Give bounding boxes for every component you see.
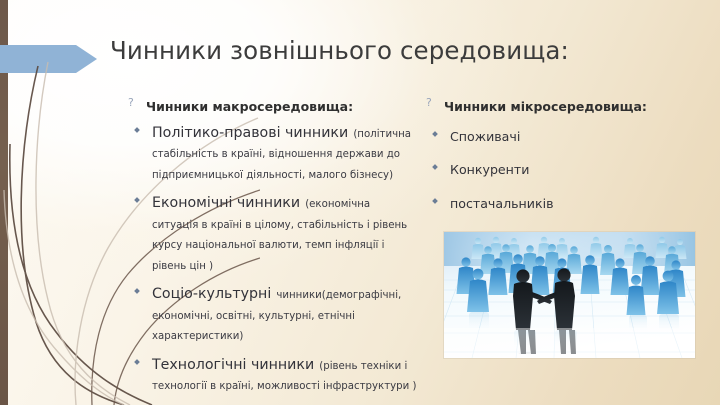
diamond-bullet-icon (134, 359, 140, 365)
list-item: постачальників (424, 193, 700, 212)
list-item-main-label: Політико-правові чинники (152, 125, 348, 141)
list-item: Економічні чинники (економічна ситуація … (126, 192, 418, 274)
list-item: Конкуренти (424, 159, 700, 178)
arrow-banner-shape (0, 45, 98, 73)
diamond-bullet-icon (134, 289, 140, 295)
list-item: Соціо-культурні чинники(демографічні, ек… (126, 283, 418, 344)
left-content-column: ? Чинники макросередовища: Політико-прав… (126, 96, 418, 404)
list-item-main-label: Соціо-культурні (152, 286, 271, 302)
left-column-heading-label: Чинники макросередовища: (146, 99, 353, 114)
list-item-main-label: Економічні чинники (152, 195, 300, 211)
right-column-heading-label: Чинники мікросередовища: (444, 99, 647, 114)
question-mark-bullet-icon: ? (128, 97, 134, 109)
right-column-heading: ? Чинники мікросередовища: (424, 96, 700, 115)
question-mark-bullet-icon: ? (426, 97, 432, 109)
list-item: Технологічні чинники (рівень техніки і т… (126, 354, 418, 395)
slide-title: Чинники зовнішнього середовища: (110, 36, 710, 65)
presentation-slide: Чинники зовнішнього середовища: ? Чинник… (0, 0, 720, 405)
diamond-bullet-icon (432, 198, 438, 204)
list-item-label: постачальників (450, 196, 554, 211)
business-people-handshake-crowd-illustration (444, 232, 695, 358)
diamond-bullet-icon (134, 127, 140, 133)
list-item-main-label: Технологічні чинники (152, 357, 314, 373)
list-item: Політико-правові чинники (політична стаб… (126, 122, 418, 183)
diamond-bullet-icon (432, 131, 438, 137)
list-item-label: Конкуренти (450, 162, 529, 177)
left-column-heading: ? Чинники макросередовища: (126, 96, 418, 115)
diamond-bullet-icon (432, 165, 438, 171)
diamond-bullet-icon (134, 198, 140, 204)
left-accent-bar-arrow-overlap (0, 45, 8, 73)
right-content-column: ? Чинники мікросередовища: Споживачі Кон… (424, 96, 700, 226)
list-item: Споживачі (424, 126, 700, 145)
list-item-label: Споживачі (450, 129, 520, 144)
